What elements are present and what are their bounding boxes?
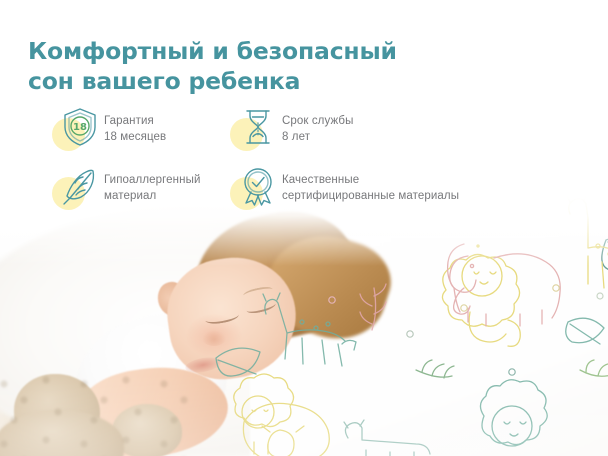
feature-label: Гипоаллергенный материал: [104, 163, 200, 204]
icon-container: [230, 163, 282, 215]
feature-lifetime: Срок службы 8 лет: [230, 104, 520, 156]
feather-icon: [59, 165, 101, 207]
branch-icon: [360, 284, 386, 330]
sprig-icon: [580, 360, 608, 376]
icon-container: [230, 104, 282, 156]
feature-row: Гипоаллергенный материал: [52, 163, 522, 215]
icon-container: [52, 163, 104, 215]
feature-certified: Качественные сертифицированные материалы: [230, 163, 520, 215]
hourglass-icon: [237, 106, 279, 148]
feature-warranty: 18 Гарантия 18 месяцев: [52, 104, 230, 156]
sprig-icon: [416, 360, 454, 378]
warranty-months-value: 18: [73, 122, 87, 133]
shield-18-icon: 18: [59, 106, 101, 148]
giraffe-icon: [263, 293, 356, 366]
feature-hypoallergenic: Гипоаллергенный материал: [52, 163, 230, 215]
teddy-texture: [0, 372, 194, 456]
icon-container: 18: [52, 104, 104, 156]
dots-decoration: [329, 285, 603, 375]
giraffe-icon: [344, 420, 430, 456]
promo-banner: Комфортный и безопасный сон вашего ребен…: [0, 0, 608, 456]
quality-badge-icon: [237, 165, 279, 207]
hero-photo: [0, 196, 608, 456]
feature-label: Срок службы 8 лет: [282, 104, 353, 145]
lion-icon: [480, 380, 547, 446]
feature-list: 18 Гарантия 18 месяцев: [52, 104, 522, 215]
page-title: Комфортный и безопасный сон вашего ребен…: [28, 36, 448, 96]
sheep-icon: [243, 403, 329, 456]
animal-doodle-pattern: [250, 252, 608, 456]
leaf-icon: [566, 318, 604, 344]
feature-row: 18 Гарантия 18 месяцев: [52, 104, 522, 156]
feature-label: Гарантия 18 месяцев: [104, 104, 166, 145]
feature-label: Качественные сертифицированные материалы: [282, 163, 459, 204]
child-nose: [202, 330, 226, 346]
